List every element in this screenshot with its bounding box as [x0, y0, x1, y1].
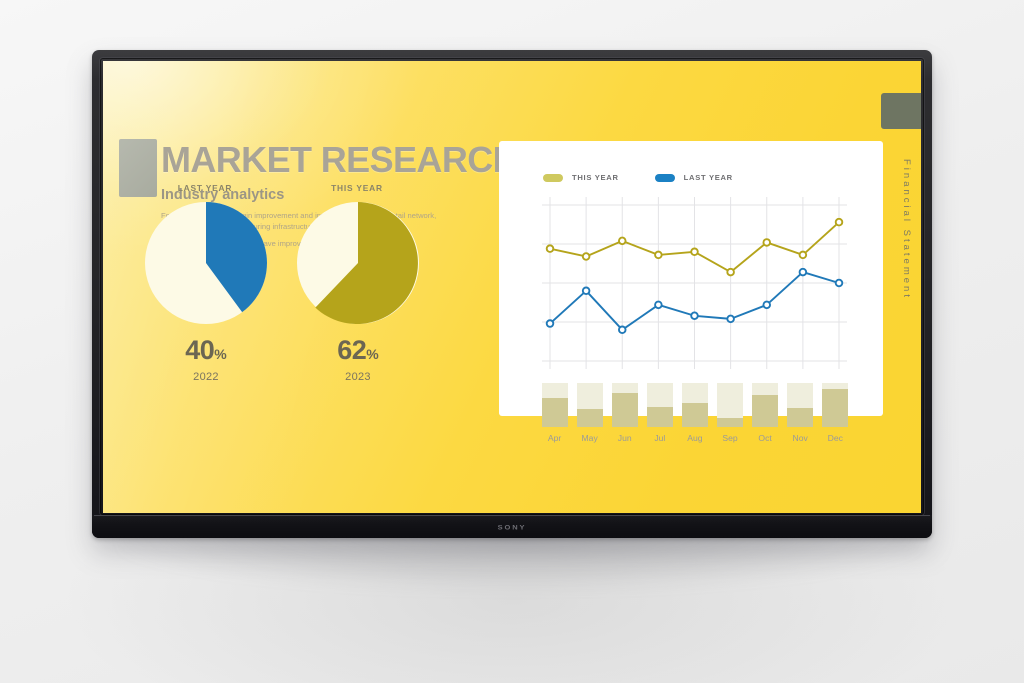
screen-bezel-edge	[100, 58, 924, 515]
tv-bottom-bezel: SONY	[92, 515, 932, 538]
television-device: Financial Statement MARKET RESEARCH Indu…	[92, 50, 932, 538]
brand-logo: SONY	[498, 523, 527, 530]
bezel-highlight	[94, 515, 930, 516]
